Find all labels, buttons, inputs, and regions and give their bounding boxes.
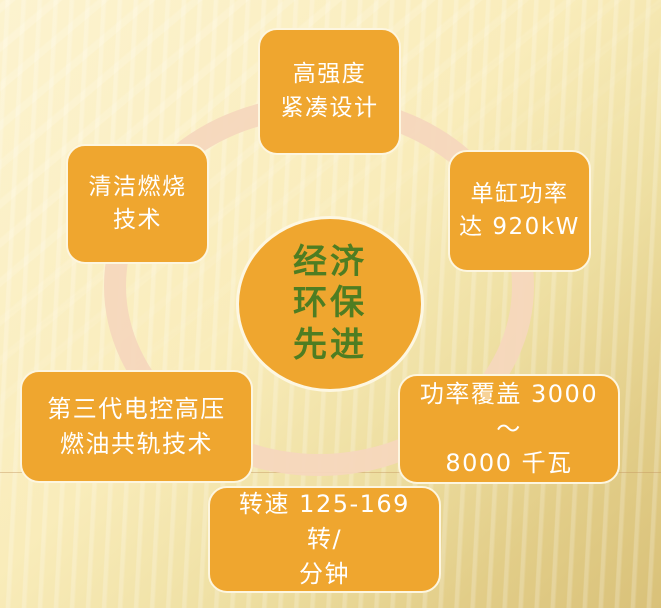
node-botleft-line-2: 燃油共轨技术 [60, 430, 213, 458]
node-botright-line-2: 8000 千瓦 [445, 449, 572, 477]
node-bottom-line-2: 分钟 [299, 560, 350, 588]
center-hub-line-1: 经济 [293, 242, 367, 283]
node-botright-line-1: 功率覆盖 3000～ [420, 380, 598, 443]
node-single-cylinder-power[interactable]: 单缸功率 达 920kW [448, 150, 591, 272]
node-clean-combustion-technology[interactable]: 清洁燃烧 技术 [66, 144, 209, 264]
center-hub-line-2: 环保 [293, 283, 367, 324]
node-left-line-1: 清洁燃烧 [89, 174, 187, 200]
node-right-line-1: 单缸功率 [471, 181, 569, 207]
node-rotation-speed-range[interactable]: 转速 125-169 转/ 分钟 [208, 486, 441, 593]
node-right-line-2: 达 920kW [459, 214, 580, 240]
node-top-line-2: 紧凑设计 [281, 95, 379, 121]
node-high-strength-compact-design[interactable]: 高强度 紧凑设计 [258, 28, 401, 155]
node-left-line-2: 技术 [113, 207, 162, 233]
node-botleft-line-1: 第三代电控高压 [47, 395, 226, 423]
center-hub-line-3: 先进 [293, 325, 367, 366]
slide-canvas: 经济 环保 先进 高强度 紧凑设计 清洁燃烧 技术 单缸功率 达 920kW 第… [0, 0, 661, 608]
node-power-coverage-range[interactable]: 功率覆盖 3000～ 8000 千瓦 [398, 374, 620, 484]
center-hub: 经济 环保 先进 [236, 216, 424, 392]
node-bottom-line-1: 转速 125-169 转/ [239, 490, 410, 553]
node-top-line-1: 高强度 [293, 61, 367, 87]
node-third-gen-common-rail[interactable]: 第三代电控高压 燃油共轨技术 [20, 370, 253, 483]
